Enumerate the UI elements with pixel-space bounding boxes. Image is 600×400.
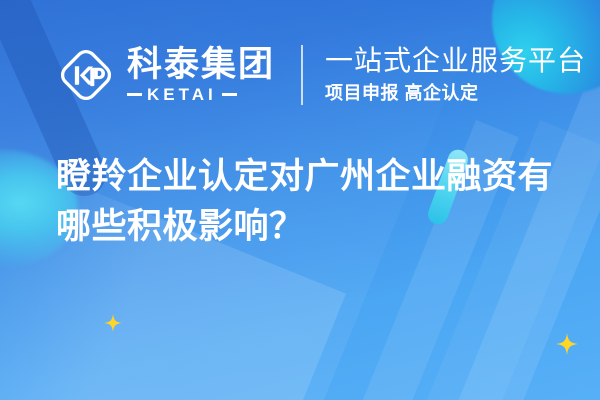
banner-headline: 瞪羚企业认定对广州企业融资有哪些积极影响？	[56, 152, 566, 251]
logo-name-cn: 科泰集团	[127, 47, 275, 84]
header-divider	[301, 45, 303, 105]
tagline-group: 一站式企业服务平台 项目申报 高企认定	[325, 45, 586, 105]
sparkle-star-icon-right	[556, 333, 578, 355]
ketai-diamond-kp-logo-icon	[55, 44, 117, 106]
promo-banner: 科泰集团 KETAI 一站式企业服务平台 项目申报 高企认定 瞪羚企业认定对广州…	[0, 0, 600, 400]
logo-dash-left	[127, 93, 142, 96]
logo-name-en: KETAI	[147, 86, 217, 103]
logo-wordmark: 科泰集团 KETAI	[127, 47, 275, 104]
sparkle-star-icon-left	[104, 314, 122, 332]
banner-header: 科泰集团 KETAI 一站式企业服务平台 项目申报 高企认定	[55, 36, 586, 114]
tagline-main: 一站式企业服务平台	[325, 45, 586, 77]
tagline-sub: 项目申报 高企认定	[325, 83, 586, 105]
logo-dash-right	[222, 93, 237, 96]
logo-name-en-row: KETAI	[127, 86, 275, 103]
